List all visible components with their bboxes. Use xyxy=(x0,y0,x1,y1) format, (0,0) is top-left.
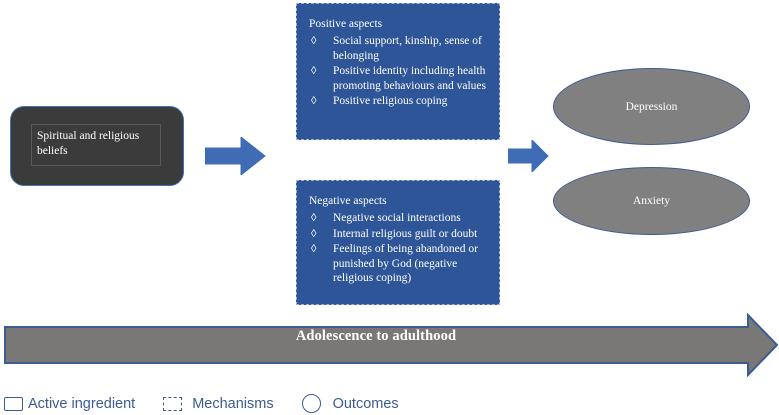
timeline-arrow xyxy=(4,313,779,377)
timeline-label: Adolescence to adulthood xyxy=(0,327,752,345)
arrow-active-to-mechanisms xyxy=(205,137,267,175)
legend-item-outcomes: Outcomes xyxy=(302,394,399,413)
mechanism-box-negative: Negative aspects ◊ Negative social inter… xyxy=(296,180,500,305)
outcome-label: Anxiety xyxy=(633,195,670,207)
diagram-canvas: Spiritual and religious beliefs Positive… xyxy=(0,0,779,415)
legend-label: Outcomes xyxy=(333,396,399,412)
outcome-ellipse-anxiety: Anxiety xyxy=(553,167,750,235)
mechanism-positive-title: Positive aspects xyxy=(309,17,382,31)
list-item-label: Internal religious guilt or doubt xyxy=(333,228,477,240)
outcome-ellipse-depression: Depression xyxy=(553,68,750,145)
mechanism-box-positive: Positive aspects ◊ Social support, kinsh… xyxy=(296,3,500,140)
list-item-label: Positive identity including health promo… xyxy=(333,65,486,92)
outcome-label: Depression xyxy=(626,101,678,113)
list-item-label: Feelings of being abandoned or punished … xyxy=(333,243,478,284)
mechanism-positive-list: ◊ Social support, kinship, sense of belo… xyxy=(309,34,493,110)
list-item: ◊ Internal religious guilt or doubt xyxy=(309,227,493,242)
list-item: ◊ Positive religious coping xyxy=(309,94,493,109)
list-item-label: Positive religious coping xyxy=(333,95,447,107)
list-item-label: Negative social interactions xyxy=(333,212,461,224)
square-outline-icon xyxy=(4,397,23,411)
dashed-square-icon xyxy=(163,397,182,411)
list-item-label: Social support, kinship, sense of belong… xyxy=(333,35,482,62)
active-ingredient-label: Spiritual and religious beliefs xyxy=(31,124,161,166)
mechanism-negative-title: Negative aspects xyxy=(309,194,387,208)
list-item: ◊ Social support, kinship, sense of belo… xyxy=(309,34,493,63)
diamond-bullet-icon: ◊ xyxy=(311,242,316,257)
legend-label: Mechanisms xyxy=(192,396,273,412)
diamond-bullet-icon: ◊ xyxy=(311,211,316,226)
mechanism-negative-list: ◊ Negative social interactions ◊ Interna… xyxy=(309,211,493,287)
legend-item-active-ingredient: Active ingredient xyxy=(4,396,135,412)
diamond-bullet-icon: ◊ xyxy=(311,227,316,242)
diamond-bullet-icon: ◊ xyxy=(311,64,316,79)
diamond-bullet-icon: ◊ xyxy=(311,94,316,109)
legend-item-mechanisms: Mechanisms xyxy=(163,396,273,412)
list-item: ◊ Negative social interactions xyxy=(309,211,493,226)
legend-label: Active ingredient xyxy=(28,396,135,412)
list-item: ◊ Positive identity including health pro… xyxy=(309,64,493,93)
arrow-mechanisms-to-outcomes xyxy=(508,140,550,172)
circle-outline-icon xyxy=(302,394,321,413)
legend: Active ingredient Mechanisms Outcomes xyxy=(4,392,399,415)
active-ingredient-box: Spiritual and religious beliefs xyxy=(10,106,184,186)
list-item: ◊ Feelings of being abandoned or punishe… xyxy=(309,242,493,286)
diamond-bullet-icon: ◊ xyxy=(311,34,316,49)
